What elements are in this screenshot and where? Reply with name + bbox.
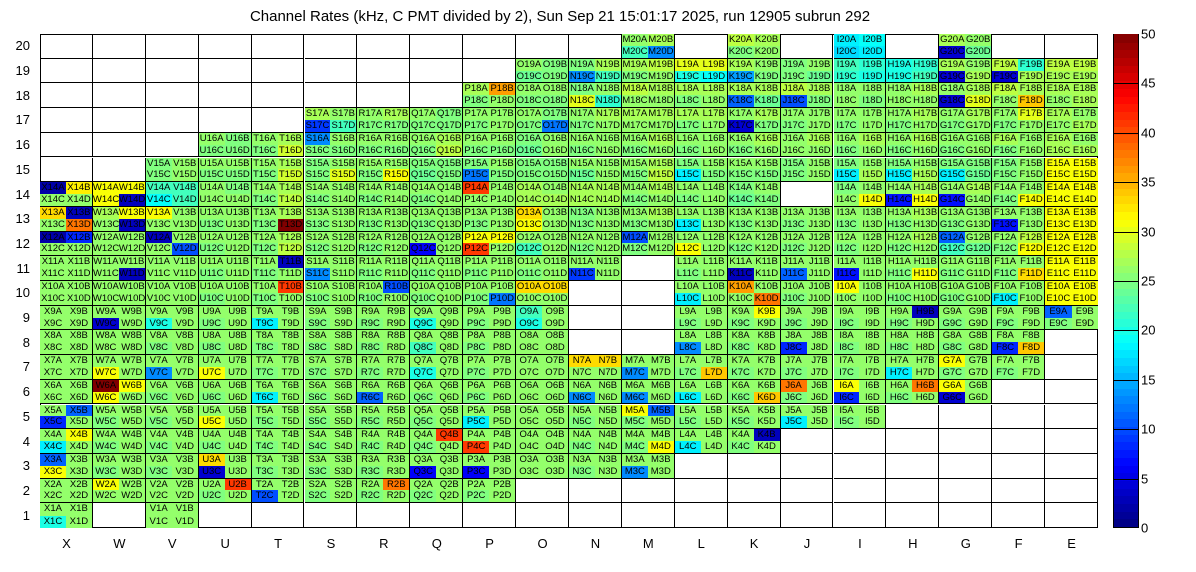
- channel-cell-v3: V3AV3BV3CV3D: [146, 454, 199, 479]
- channel-s5a: S5A: [305, 405, 331, 417]
- channel-p6b: P6B: [489, 380, 515, 392]
- channel-v6d: V6D: [172, 392, 198, 404]
- channel-l8c: L8C: [675, 342, 701, 354]
- channel-cell-s15: S15AS15BS15CS15D: [305, 158, 358, 183]
- channel-w8a: W8A: [93, 330, 119, 342]
- channel-q10b: Q10B: [436, 281, 462, 293]
- channel-e19c: E19C: [1045, 71, 1071, 83]
- channel-o15b: O15B: [542, 158, 568, 170]
- channel-cell-f9: F9AF9BF9CF9D: [992, 306, 1045, 331]
- channel-q14b: Q14B: [436, 182, 462, 194]
- channel-r2c: R2C: [357, 490, 383, 502]
- channel-v3a: V3A: [146, 454, 172, 466]
- channel-i12d: I12D: [859, 243, 885, 255]
- channel-p6c: P6C: [463, 392, 489, 404]
- channel-x10b: X10B: [66, 281, 92, 293]
- channel-e12d: E12D: [1072, 243, 1098, 255]
- colorbar-tick-25: 25: [1141, 274, 1155, 289]
- channel-j9b: J9B: [807, 306, 833, 318]
- channel-cell-k7: K7AK7BK7CK7D: [728, 355, 781, 380]
- channel-l10c: L10C: [675, 293, 701, 305]
- channel-h13c: H13C: [886, 219, 912, 231]
- channel-f14b: F14B: [1018, 182, 1044, 194]
- channel-r6b: R6B: [383, 380, 409, 392]
- channel-m13d: M13D: [648, 219, 674, 231]
- channel-cell-w7: W7AW7BW7CW7D: [93, 355, 146, 380]
- channel-t8b: T8B: [278, 330, 304, 342]
- channel-s9d: S9D: [330, 318, 356, 330]
- channel-h9b: H9B: [912, 306, 938, 318]
- channel-m6a: M6A: [622, 380, 648, 392]
- channel-h6a: H6A: [886, 380, 912, 392]
- channel-q6c: Q6C: [410, 392, 436, 404]
- channel-v10a: V10A: [146, 281, 172, 293]
- channel-e11a: E11A: [1045, 256, 1071, 268]
- colorbar-tick-0: 0: [1141, 521, 1148, 536]
- channel-g8d: G8D: [965, 342, 991, 354]
- channel-cell-k4: K4AK4BK4CK4D: [728, 429, 781, 454]
- channel-v7a: V7A: [146, 355, 172, 367]
- channel-i10d: I10D: [859, 293, 885, 305]
- channel-s3a: S3A: [305, 454, 331, 466]
- channel-r13b: R13B: [383, 207, 409, 219]
- grid-cell: [199, 503, 252, 528]
- channel-v7d: V7D: [172, 367, 198, 379]
- channel-cell-e19: E19AE19BE19CE19D: [1045, 59, 1098, 84]
- channel-n5a: N5A: [569, 405, 595, 417]
- colorbar-tickmark: [1114, 133, 1138, 134]
- channel-w12a: W12A: [93, 232, 119, 244]
- grid-cell: [886, 429, 939, 454]
- channel-o10a: O10A: [516, 281, 542, 293]
- channel-j17d: J17D: [807, 120, 833, 132]
- channel-cell-w11: W11AW11BW11CW11D: [93, 256, 146, 281]
- channel-cell-q17: Q17AQ17BQ17CQ17D: [410, 108, 463, 133]
- channel-w12d: W12D: [119, 243, 145, 255]
- channel-p18d: P18D: [489, 95, 515, 107]
- channel-cell-s6: S6AS6BS6CS6D: [305, 380, 358, 405]
- grid-cell: [146, 59, 199, 84]
- channel-p8d: P8D: [489, 342, 515, 354]
- channel-u13d: U13D: [225, 219, 251, 231]
- channel-t15b: T15B: [278, 158, 304, 170]
- channel-t16c: T16C: [252, 145, 278, 157]
- channel-t4b: T4B: [278, 429, 304, 441]
- channel-u15a: U15A: [199, 158, 225, 170]
- channel-cell-l14: L14AL14BL14CL14D: [675, 182, 728, 207]
- channel-cell-i7: I7AI7BI7CI7D: [834, 355, 887, 380]
- channel-g10d: G10D: [965, 293, 991, 305]
- channel-u4d: U4D: [225, 441, 251, 453]
- channel-s10c: S10C: [305, 293, 331, 305]
- channel-v13c: V13C: [146, 219, 172, 231]
- channel-m19b: M19B: [648, 59, 674, 71]
- channel-t7c: T7C: [252, 367, 278, 379]
- channel-t4c: T4C: [252, 441, 278, 453]
- channel-e15b: E15B: [1072, 158, 1098, 170]
- channel-cell-h12: H12AH12BH12CH12D: [886, 232, 939, 257]
- channel-m16b: M16B: [648, 133, 674, 145]
- channel-x13a: X13A: [40, 207, 66, 219]
- grid-cell: [939, 503, 992, 528]
- channel-s16d: S16D: [330, 145, 356, 157]
- grid-cell: [622, 330, 675, 355]
- channel-r3d: R3D: [383, 466, 409, 478]
- channel-q3d: Q3D: [436, 466, 462, 478]
- channel-m14b: M14B: [648, 182, 674, 194]
- channel-n14d: N14D: [595, 194, 621, 206]
- channel-cell-f18: F18AF18BF18CF18D: [992, 83, 1045, 108]
- channel-k19b: K19B: [754, 59, 780, 71]
- channel-w11c: W11C: [93, 268, 119, 280]
- channel-m5c: M5C: [622, 416, 648, 428]
- channel-q14d: Q14D: [436, 194, 462, 206]
- channel-cell-u15: U15AU15BU15CU15D: [199, 158, 252, 183]
- channel-k18a: K18A: [728, 83, 754, 95]
- channel-h18a: H18A: [886, 83, 912, 95]
- channel-g6c: G6C: [939, 392, 965, 404]
- channel-cell-o15: O15AO15BO15CO15D: [516, 158, 569, 183]
- channel-n16d: N16D: [595, 145, 621, 157]
- channel-k7c: K7C: [728, 367, 754, 379]
- colorbar-tickmark: [1114, 380, 1138, 381]
- channel-x4d: X4D: [66, 441, 92, 453]
- channel-x11a: X11A: [40, 256, 66, 268]
- channel-cell-v13: V13AV13BV13CV13D: [146, 207, 199, 232]
- channel-q16d: Q16D: [436, 145, 462, 157]
- channel-o7b: O7B: [542, 355, 568, 367]
- channel-f16c: F16C: [992, 145, 1018, 157]
- channel-cell-t3: T3AT3BT3CT3D: [252, 454, 305, 479]
- channel-m19c: M19C: [622, 71, 648, 83]
- channel-n7b: N7B: [595, 355, 621, 367]
- channel-v8c: V8C: [146, 342, 172, 354]
- channel-n18d: N18D: [595, 95, 621, 107]
- channel-i15b: I15B: [859, 158, 885, 170]
- channel-j12d: J12D: [807, 243, 833, 255]
- channel-i12a: I12A: [834, 232, 860, 244]
- channel-v8b: V8B: [172, 330, 198, 342]
- channel-o19d: O19D: [542, 71, 568, 83]
- channel-e10b: E10B: [1072, 281, 1098, 293]
- channel-j7d: J7D: [807, 367, 833, 379]
- channel-cell-u16: U16AU16BU16CU16D: [199, 133, 252, 158]
- channel-w2a: W2A: [93, 479, 119, 491]
- channel-k12c: K12C: [728, 243, 754, 255]
- channel-cell-t5: T5AT5BT5CT5D: [252, 405, 305, 430]
- channel-k12d: K12D: [754, 243, 780, 255]
- channel-q16b: Q16B: [436, 133, 462, 145]
- channel-rate-map: M20AM20BM20CM20DK20AK20BK20CK20DI20AI20B…: [40, 34, 1098, 528]
- channel-x5b: X5B: [66, 405, 92, 417]
- channel-m16a: M16A: [622, 133, 648, 145]
- channel-u8d: U8D: [225, 342, 251, 354]
- channel-cell-w3: W3AW3BW3CW3D: [93, 454, 146, 479]
- channel-x7d: X7D: [66, 367, 92, 379]
- channel-l6b: L6B: [701, 380, 727, 392]
- channel-t7d: T7D: [278, 367, 304, 379]
- channel-m17d: M17D: [648, 120, 674, 132]
- channel-cell-s11: S11AS11BS11CS11D: [305, 256, 358, 281]
- channel-k17a: K17A: [728, 108, 754, 120]
- grid-cell: [992, 405, 1045, 430]
- channel-j7a: J7A: [781, 355, 807, 367]
- channel-h16d: H16D: [912, 145, 938, 157]
- channel-cell-m18: M18AM18BM18CM18D: [622, 83, 675, 108]
- channel-o3d: O3D: [542, 466, 568, 478]
- channel-v8a: V8A: [146, 330, 172, 342]
- channel-cell-n7: N7AN7BN7CN7D: [569, 355, 622, 380]
- channel-s10a: S10A: [305, 281, 331, 293]
- x-axis-label-n: N: [575, 536, 615, 551]
- x-axis-label-g: G: [946, 536, 986, 551]
- channel-p2c: P2C: [463, 490, 489, 502]
- channel-h12a: H12A: [886, 232, 912, 244]
- channel-r14a: R14A: [357, 182, 383, 194]
- channel-i5d: I5D: [859, 416, 885, 428]
- colorbar-tick-5: 5: [1141, 471, 1148, 486]
- channel-x10d: X10D: [66, 293, 92, 305]
- channel-e12c: E12C: [1045, 243, 1071, 255]
- channel-r8b: R8B: [383, 330, 409, 342]
- channel-m4a: M4A: [622, 429, 648, 441]
- channel-m12a: M12A: [622, 232, 648, 244]
- channel-v6b: V6B: [172, 380, 198, 392]
- channel-cell-t12: T12AT12BT12CT12D: [252, 232, 305, 257]
- channel-cell-x8: X8AX8BX8CX8D: [40, 330, 93, 355]
- channel-m7b: M7B: [648, 355, 674, 367]
- grid-cell: [1045, 429, 1098, 454]
- grid-cell: [1045, 405, 1098, 430]
- channel-m19a: M19A: [622, 59, 648, 71]
- channel-v2a: V2A: [146, 479, 172, 491]
- channel-f16b: F16B: [1018, 133, 1044, 145]
- channel-f14c: F14C: [992, 194, 1018, 206]
- channel-l18c: L18C: [675, 95, 701, 107]
- channel-s11a: S11A: [305, 256, 331, 268]
- y-axis-label-5: 5: [8, 409, 30, 424]
- channel-v9d: V9D: [172, 318, 198, 330]
- channel-n13d: N13D: [595, 219, 621, 231]
- channel-u2c: U2C: [199, 490, 225, 502]
- channel-o13a: O13A: [516, 207, 542, 219]
- channel-t5a: T5A: [252, 405, 278, 417]
- channel-o15c: O15C: [516, 169, 542, 181]
- channel-w14d: W14D: [119, 194, 145, 206]
- channel-h11b: H11B: [912, 256, 938, 268]
- channel-cell-s8: S8AS8BS8CS8D: [305, 330, 358, 355]
- channel-j11d: J11D: [807, 268, 833, 280]
- channel-j15d: J15D: [807, 169, 833, 181]
- channel-u10d: U10D: [225, 293, 251, 305]
- channel-o9b: O9B: [542, 306, 568, 318]
- channel-cell-l4: L4AL4BL4CL4D: [675, 429, 728, 454]
- channel-g11c: G11C: [939, 268, 965, 280]
- channel-l8d: L8D: [701, 342, 727, 354]
- channel-f19a: F19A: [992, 59, 1018, 71]
- channel-r7c: R7C: [357, 367, 383, 379]
- channel-cell-n16: N16AN16BN16CN16D: [569, 133, 622, 158]
- channel-q17c: Q17C: [410, 120, 436, 132]
- channel-cell-f15: F15AF15BF15CF15D: [992, 158, 1045, 183]
- channel-m4c: M4C: [622, 441, 648, 453]
- channel-n15d: N15D: [595, 169, 621, 181]
- channel-k20d: K20D: [754, 46, 780, 58]
- channel-cell-p7: P7AP7BP7CP7D: [463, 355, 516, 380]
- channel-cell-g16: G16AG16BG16CG16D: [939, 133, 992, 158]
- grid-cell: [93, 503, 146, 528]
- channel-o3a: O3A: [516, 454, 542, 466]
- channel-s14a: S14A: [305, 182, 331, 194]
- channel-o4c: O4C: [516, 441, 542, 453]
- channel-i20c: I20C: [834, 46, 860, 58]
- channel-cell-t9: T9AT9BT9CT9D: [252, 306, 305, 331]
- channel-t9c: T9C: [252, 318, 278, 330]
- channel-o18c: O18C: [516, 95, 542, 107]
- channel-q3a: Q3A: [410, 454, 436, 466]
- channel-m4b: M4B: [648, 429, 674, 441]
- channel-g11a: G11A: [939, 256, 965, 268]
- channel-cell-x10: X10AX10BX10CX10D: [40, 281, 93, 306]
- channel-j5b: J5B: [807, 405, 833, 417]
- channel-f12c: F12C: [992, 243, 1018, 255]
- channel-i15d: I15D: [859, 169, 885, 181]
- channel-x1b: X1B: [66, 503, 92, 515]
- channel-cell-g11: G11AG11BG11CG11D: [939, 256, 992, 281]
- channel-e19d: E19D: [1072, 71, 1098, 83]
- channel-v14d: V14D: [172, 194, 198, 206]
- channel-k10c: K10C: [728, 293, 754, 305]
- channel-f10a: F10A: [992, 281, 1018, 293]
- channel-q16a: Q16A: [410, 133, 436, 145]
- channel-x14b: X14B: [66, 182, 92, 194]
- channel-r10d: R10D: [383, 293, 409, 305]
- channel-h7a: H7A: [886, 355, 912, 367]
- channel-p15b: P15B: [489, 158, 515, 170]
- channel-g14d: G14D: [965, 194, 991, 206]
- channel-cell-h8: H8AH8BH8CH8D: [886, 330, 939, 355]
- channel-cell-s3: S3AS3BS3CS3D: [305, 454, 358, 479]
- channel-g9d: G9D: [965, 318, 991, 330]
- channel-f15c: F15C: [992, 169, 1018, 181]
- channel-cell-p6: P6AP6BP6CP6D: [463, 380, 516, 405]
- grid-cell: [252, 59, 305, 84]
- channel-cell-h15: H15AH15BH15CH15D: [886, 158, 939, 183]
- channel-g6b: G6B: [965, 380, 991, 392]
- channel-s4b: S4B: [330, 429, 356, 441]
- channel-x5a: X5A: [40, 405, 66, 417]
- channel-x9b: X9B: [66, 306, 92, 318]
- channel-v3c: V3C: [146, 466, 172, 478]
- channel-w8b: W8B: [119, 330, 145, 342]
- channel-w2b: W2B: [119, 479, 145, 491]
- channel-o17d: O17D: [542, 120, 568, 132]
- channel-l9d: L9D: [701, 318, 727, 330]
- channel-s3c: S3C: [305, 466, 331, 478]
- channel-h10a: H10A: [886, 281, 912, 293]
- channel-t5d: T5D: [278, 416, 304, 428]
- channel-u15d: U15D: [225, 169, 251, 181]
- channel-cell-t6: T6AT6BT6CT6D: [252, 380, 305, 405]
- channel-u13c: U13C: [199, 219, 225, 231]
- grid-cell: [569, 34, 622, 59]
- channel-cell-q9: Q9AQ9BQ9CQ9D: [410, 306, 463, 331]
- channel-cell-g19: G19AG19BG19CG19D: [939, 59, 992, 84]
- channel-h8c: H8C: [886, 342, 912, 354]
- channel-h14c: H14C: [886, 194, 912, 206]
- grid-cell: [622, 479, 675, 504]
- channel-s7d: S7D: [330, 367, 356, 379]
- channel-x7c: X7C: [40, 367, 66, 379]
- channel-cell-w6: W6AW6BW6CW6D: [93, 380, 146, 405]
- grid-cell: [146, 34, 199, 59]
- channel-v5a: V5A: [146, 405, 172, 417]
- channel-s12a: S12A: [305, 232, 331, 244]
- channel-cell-o5: O5AO5BO5CO5D: [516, 405, 569, 430]
- channel-j18b: J18B: [807, 83, 833, 95]
- x-axis-label-w: W: [99, 536, 139, 551]
- channel-cell-r17: R17AR17BR17CR17D: [357, 108, 410, 133]
- channel-p13d: P13D: [489, 219, 515, 231]
- channel-t5b: T5B: [278, 405, 304, 417]
- channel-cell-w8: W8AW8BW8CW8D: [93, 330, 146, 355]
- channel-p7b: P7B: [489, 355, 515, 367]
- channel-l11d: L11D: [701, 268, 727, 280]
- channel-cell-x11: X11AX11BX11CX11D: [40, 256, 93, 281]
- grid-cell: [410, 34, 463, 59]
- channel-q4d: Q4D: [436, 441, 462, 453]
- channel-r10c: R10C: [357, 293, 383, 305]
- channel-i9c: I9C: [834, 318, 860, 330]
- channel-l7a: L7A: [675, 355, 701, 367]
- channel-e18a: E18A: [1045, 83, 1071, 95]
- channel-s4c: S4C: [305, 441, 331, 453]
- channel-q7b: Q7B: [436, 355, 462, 367]
- y-axis-label-19: 19: [8, 63, 30, 78]
- channel-g14b: G14B: [965, 182, 991, 194]
- channel-e11b: E11B: [1072, 256, 1098, 268]
- channel-i12b: I12B: [859, 232, 885, 244]
- channel-o13b: O13B: [542, 207, 568, 219]
- channel-i19d: I19D: [859, 71, 885, 83]
- channel-x11b: X11B: [66, 256, 92, 268]
- channel-o6a: O6A: [516, 380, 542, 392]
- channel-h17c: H17C: [886, 120, 912, 132]
- channel-cell-x5: X5AX5BX5CX5D: [40, 405, 93, 430]
- channel-v10c: V10C: [146, 293, 172, 305]
- channel-p16a: P16A: [463, 133, 489, 145]
- channel-cell-q12: Q12AQ12BQ12CQ12D: [410, 232, 463, 257]
- channel-x10a: X10A: [40, 281, 66, 293]
- channel-v4a: V4A: [146, 429, 172, 441]
- channel-v11d: V11D: [172, 268, 198, 280]
- channel-cell-i17: I17AI17BI17CI17D: [834, 108, 887, 133]
- channel-cell-v2: V2AV2BV2CV2D: [146, 479, 199, 504]
- channel-cell-h10: H10AH10BH10CH10D: [886, 281, 939, 306]
- channel-l16b: L16B: [701, 133, 727, 145]
- channel-cell-v4: V4AV4BV4CV4D: [146, 429, 199, 454]
- channel-o8c: O8C: [516, 342, 542, 354]
- channel-k16d: K16D: [754, 145, 780, 157]
- channel-m20d: M20D: [648, 46, 674, 58]
- channel-h18c: H18C: [886, 95, 912, 107]
- channel-cell-k18: K18AK18BK18CK18D: [728, 83, 781, 108]
- channel-g19c: G19C: [939, 71, 965, 83]
- channel-cell-t13: T13AT13BT13CT13D: [252, 207, 305, 232]
- channel-u11c: U11C: [199, 268, 225, 280]
- channel-q8c: Q8C: [410, 342, 436, 354]
- channel-cell-l13: L13AL13BL13CL13D: [675, 207, 728, 232]
